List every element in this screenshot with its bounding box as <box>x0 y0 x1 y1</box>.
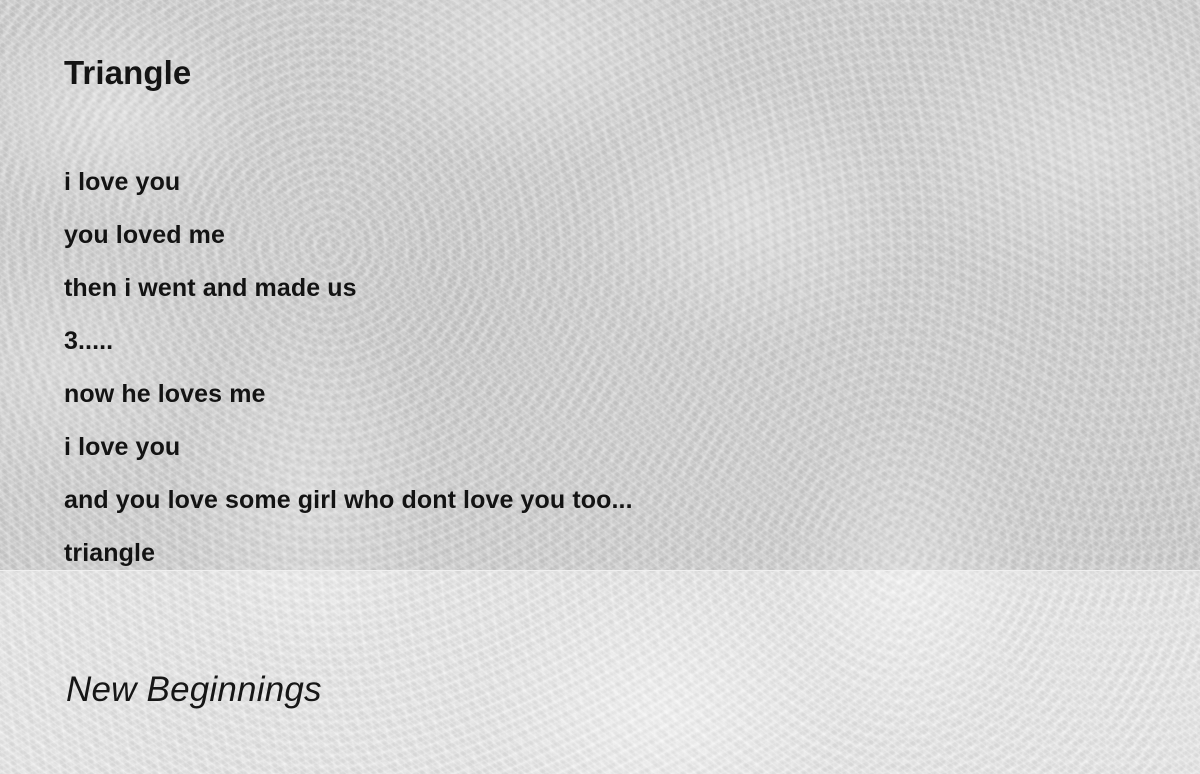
poem-line: then i went and made us <box>64 262 1144 315</box>
poem-card: Triangle i love youyou loved methen i we… <box>0 0 1200 774</box>
poem-line: and you love some girl who dont love you… <box>64 474 1144 527</box>
poem-text: i love youyou loved methen i went and ma… <box>64 156 1144 580</box>
poem-line: i love you <box>64 421 1144 474</box>
card-content: Triangle i love youyou loved methen i we… <box>0 0 1200 774</box>
poem-line: triangle <box>64 527 1144 580</box>
poem-line: you loved me <box>64 209 1144 262</box>
poem-line: i love you <box>64 156 1144 209</box>
collection-title: New Beginnings <box>66 670 322 710</box>
poem-line: 3..... <box>64 315 1144 368</box>
poem-line: now he loves me <box>64 368 1144 421</box>
page-title: Triangle <box>64 54 191 92</box>
